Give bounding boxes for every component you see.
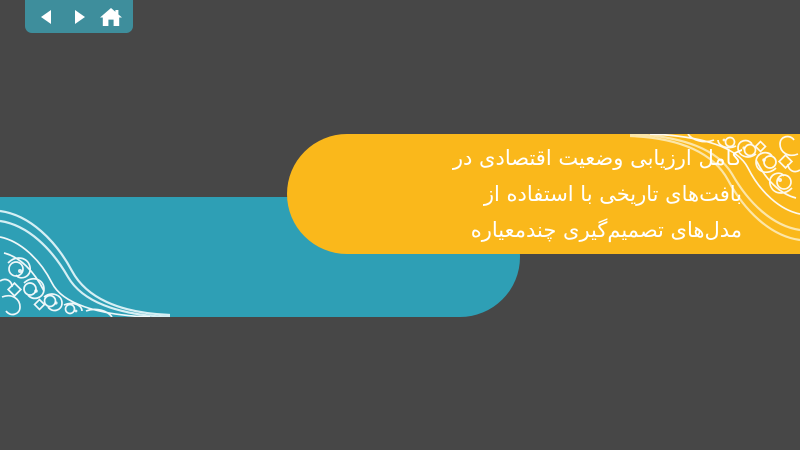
- title-line-3: مدل‌های تصمیم‌گیری چندمعیاره: [297, 212, 742, 248]
- back-triangle-icon: [38, 8, 56, 26]
- forward-button[interactable]: [66, 4, 92, 30]
- title-line-1: کامل ارزیابی وضعیت اقتصادی در: [297, 140, 742, 176]
- navigation-bar: [25, 0, 133, 33]
- home-button[interactable]: [98, 4, 124, 30]
- home-icon: [99, 6, 123, 28]
- back-button[interactable]: [34, 4, 60, 30]
- title-line-2: بافت‌های تاریخی با استفاده از: [297, 176, 742, 212]
- forward-triangle-icon: [70, 8, 88, 26]
- arabesque-ornament-icon: [0, 197, 170, 317]
- presentation-slide: کامل ارزیابی وضعیت اقتصادی در بافت‌های ت…: [0, 0, 800, 450]
- slide-title: کامل ارزیابی وضعیت اقتصادی در بافت‌های ت…: [287, 134, 800, 254]
